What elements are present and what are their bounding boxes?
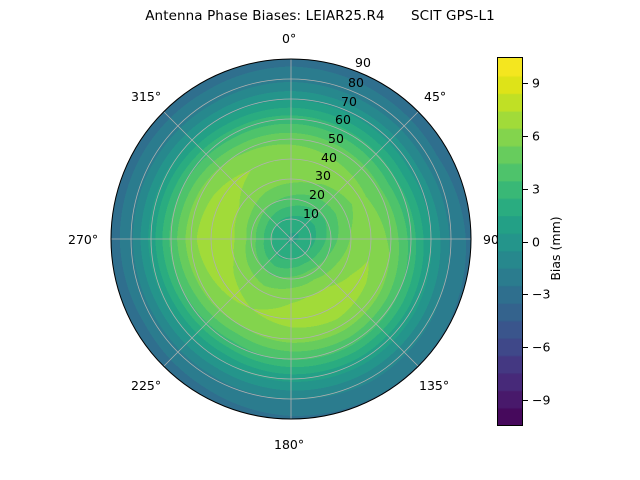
colorbar-gradient [497,57,523,426]
radial-tick-40: 40 [321,150,337,165]
angular-tick-315: 315° [131,89,161,104]
radial-tick-90: 90 [355,55,371,70]
angular-tick-135: 135° [419,378,449,393]
colorbar-tick-mark [523,242,528,243]
radial-tick-30: 30 [315,168,331,183]
angular-tick-225: 225° [131,378,161,393]
colorbar-label: Bias (mm) [548,216,563,280]
colorbar-tick-label: −3 [532,287,550,302]
polar-contour-plot [110,58,472,420]
colorbar-tick-label: 9 [532,76,540,91]
radial-tick-70: 70 [341,94,357,109]
angular-tick-0: 0° [282,31,296,46]
angular-tick-180: 180° [274,437,304,452]
angular-tick-270: 270° [68,232,98,247]
polar-axes [110,58,472,420]
radial-tick-50: 50 [328,131,344,146]
colorbar-tick-label: −9 [532,392,550,407]
colorbar-tick-label: 3 [532,181,540,196]
colorbar-tick-label: 6 [532,129,540,144]
colorbar-tick-mark [523,189,528,190]
colorbar-tick-label: −6 [532,339,550,354]
colorbar-tick-mark [523,136,528,137]
radial-tick-80: 80 [348,75,364,90]
radial-tick-10: 10 [303,206,319,221]
colorbar-tick-mark [523,294,528,295]
radial-tick-60: 60 [335,112,351,127]
colorbar-tick-mark [523,400,528,401]
angular-tick-45: 45° [424,89,446,104]
colorbar-tick-mark [523,347,528,348]
figure-canvas: Antenna Phase Biases: LEIAR25.R4 SCIT GP… [0,0,640,480]
chart-title: Antenna Phase Biases: LEIAR25.R4 SCIT GP… [0,8,640,24]
colorbar: 9630−3−6−9 Bias (mm) [497,57,617,426]
colorbar-tick-label: 0 [532,234,540,249]
radial-tick-20: 20 [309,187,325,202]
colorbar-tick-mark [523,83,528,84]
